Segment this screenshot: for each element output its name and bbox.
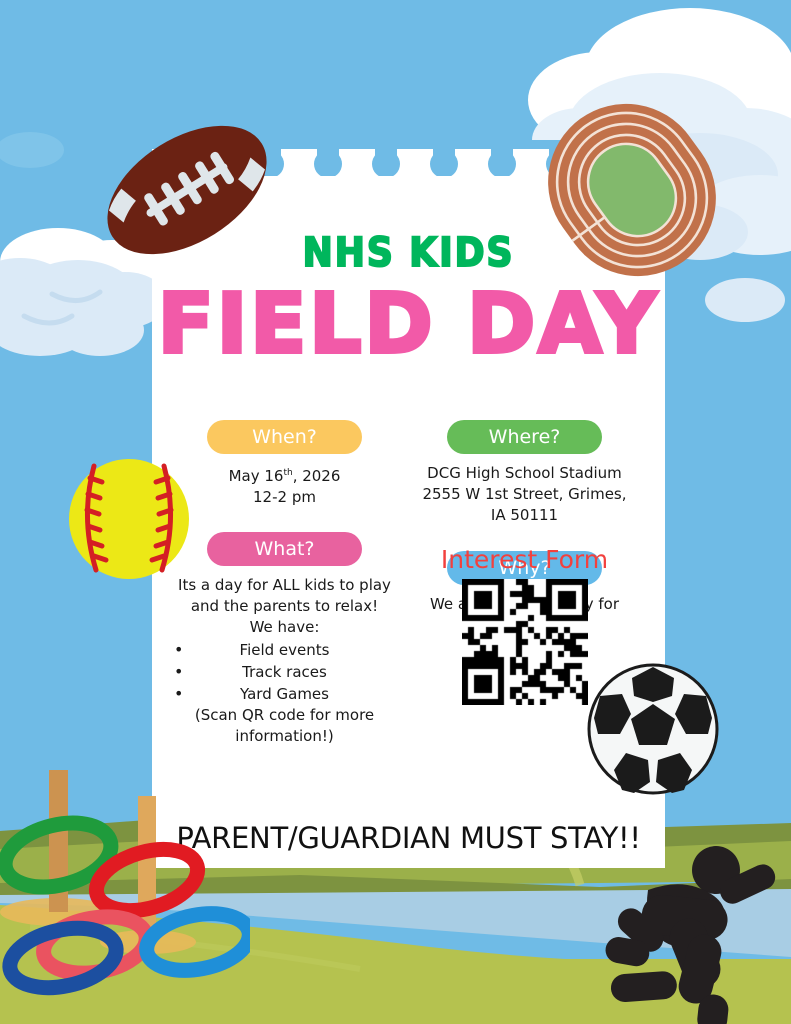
- what-line-3: We have:: [250, 618, 320, 636]
- when-details: May 16th, 2026 12-2 pm: [162, 463, 407, 508]
- when-date-prefix: May 16: [229, 467, 284, 485]
- pill-where: Where?: [447, 420, 602, 454]
- what-details: Its a day for ALL kids to play and the p…: [162, 575, 407, 638]
- when-time: 12-2 pm: [253, 488, 316, 506]
- where-line-1: DCG High School Stadium: [427, 464, 622, 482]
- where-details: DCG High School Stadium 2555 W 1st Stree…: [402, 463, 647, 526]
- running-person-icon: [600, 845, 780, 1024]
- what-note-line-2: information!): [235, 727, 333, 745]
- softball-icon: [66, 456, 192, 586]
- soccer-ball-icon: [586, 662, 720, 800]
- column-left: When? May 16th, 2026 12-2 pm What? Its a…: [162, 420, 407, 747]
- pill-what: What?: [207, 532, 362, 566]
- where-line-2: 2555 W 1st Street, Grimes,: [422, 485, 626, 503]
- list-item: Yard Games: [162, 683, 407, 705]
- what-line-2: and the parents to relax!: [191, 597, 378, 615]
- page-title-main: FIELD DAY: [152, 283, 665, 367]
- what-line-1: Its a day for ALL kids to play: [178, 576, 391, 594]
- running-track-icon: [538, 96, 726, 288]
- flyer-canvas: NHS KIDS FIELD DAY When? May 16th, 2026 …: [0, 0, 791, 1024]
- ring-toss-game-icon: [0, 770, 250, 1024]
- what-note-line-1: (Scan QR code for more: [195, 706, 374, 724]
- pill-when: When?: [207, 420, 362, 454]
- what-bullet-list: Field events Track races Yard Games: [162, 639, 407, 705]
- list-item: Track races: [162, 661, 407, 683]
- football-icon: [96, 110, 278, 274]
- qr-label: Interest Form: [402, 546, 647, 574]
- qr-code-image[interactable]: [462, 579, 588, 705]
- when-date-suffix: , 2026: [293, 467, 341, 485]
- list-item: Field events: [162, 639, 407, 661]
- when-date-ordinal: th: [283, 468, 292, 478]
- what-note: (Scan QR code for more information!): [162, 705, 407, 747]
- where-line-3: IA 50111: [491, 506, 558, 524]
